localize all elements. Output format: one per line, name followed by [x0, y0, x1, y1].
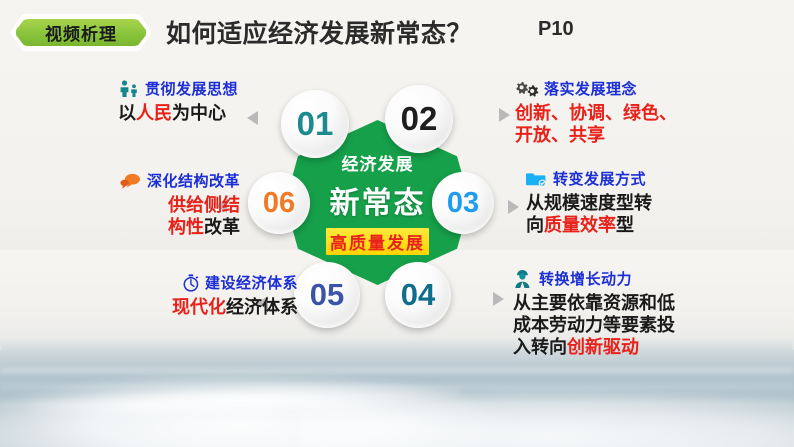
wave-foam-right [300, 387, 794, 447]
item-03-body-line1: 从规模速度型转 [526, 193, 741, 215]
number-bubble-06[interactable]: 06 [248, 172, 310, 234]
folder-check-icon [526, 170, 548, 187]
item-block-02[interactable]: 落实发展理念 创新、协调、绿色、 开放、共享 [515, 78, 730, 147]
item-04-body: 从主要依靠资源和低 成本劳动力等要素投 入转向创新驱动 [513, 293, 785, 359]
item-05-body: 现代化经济体系 [108, 297, 298, 319]
item-01-heading-row: 贯彻发展思想 [118, 78, 298, 99]
gears-icon [515, 80, 539, 98]
item-01-body: 以人民为中心 [118, 103, 298, 125]
pointer-triangle-03 [508, 200, 519, 214]
item-06-body-line1: 供给侧结 [62, 195, 240, 217]
item-06-body-l2b: 改革 [204, 217, 240, 238]
item-04-body-line1: 从主要依靠资源和低 [513, 293, 785, 315]
item-01-heading: 贯彻发展思想 [145, 78, 238, 99]
item-04-body-l3a: 入转向 [513, 337, 567, 358]
speech-bubble-icon [120, 173, 142, 189]
item-06-heading-row: 深化结构改革 [62, 170, 240, 191]
stopwatch-icon [182, 274, 200, 292]
item-03-body: 从规模速度型转 向质量效率型 [526, 193, 741, 237]
pointer-triangle-04 [493, 292, 504, 306]
item-02-heading: 落实发展理念 [544, 78, 637, 99]
item-block-01[interactable]: 贯彻发展思想 以人民为中心 [118, 78, 298, 125]
item-06-heading: 深化结构改革 [147, 170, 240, 191]
hexagon-line-2: 新常态 [330, 178, 426, 222]
section-tag-label: 视频析理 [45, 20, 117, 45]
item-02-body: 创新、协调、绿色、 开放、共享 [515, 103, 730, 147]
item-05-body-highlight: 现代化 [172, 297, 226, 318]
worker-person-icon [513, 269, 534, 288]
family-people-icon [118, 80, 140, 97]
item-01-body-a: 以 [118, 103, 136, 124]
item-block-04[interactable]: 转换增长动力 从主要依靠资源和低 成本劳动力等要素投 入转向创新驱动 [513, 268, 785, 359]
item-block-05[interactable]: 建设经济体系 现代化经济体系 [108, 272, 298, 319]
item-05-heading: 建设经济体系 [205, 272, 298, 293]
item-03-heading-row: 转变发展方式 [526, 168, 741, 189]
item-block-03[interactable]: 转变发展方式 从规模速度型转 向质量效率型 [526, 168, 741, 237]
item-06-body-line2: 构性改革 [62, 217, 240, 239]
number-bubble-03[interactable]: 03 [432, 172, 494, 234]
item-05-body-b: 经济体系 [226, 297, 298, 318]
slide-header: 视频析理 如何适应经济发展新常态？ P10 [0, 0, 794, 62]
item-05-heading-row: 建设经济体系 [108, 272, 298, 293]
item-03-body-l2a: 向 [526, 215, 544, 236]
pointer-triangle-02 [499, 108, 510, 122]
number-bubble-05[interactable]: 05 [294, 262, 360, 328]
item-03-body-l2c: 型 [616, 215, 634, 236]
item-03-body-line2: 向质量效率型 [526, 215, 741, 237]
number-bubble-02[interactable]: 02 [385, 85, 453, 153]
item-01-body-highlight: 人民 [136, 103, 172, 124]
item-02-body-line1: 创新、协调、绿色、 [515, 103, 730, 125]
item-04-heading-row: 转换增长动力 [513, 268, 785, 289]
item-04-body-highlight: 创新驱动 [567, 337, 639, 358]
item-04-heading: 转换增长动力 [539, 268, 632, 289]
page-title: 如何适应经济发展新常态？ [166, 14, 472, 50]
item-04-body-line2: 成本劳动力等要素投 [513, 315, 785, 337]
item-02-body-line2: 开放、共享 [515, 125, 730, 147]
hexagon-line-1: 经济发展 [342, 150, 414, 175]
item-01-body-c: 为中心 [172, 103, 226, 124]
item-02-heading-row: 落实发展理念 [515, 78, 730, 99]
item-block-06[interactable]: 深化结构改革 供给侧结 构性改革 [62, 170, 240, 239]
page-number: P10 [538, 18, 574, 41]
hexagon-line-3: 高质量发展 [326, 228, 429, 255]
item-06-body-highlight: 构性 [168, 217, 204, 238]
section-tag: 视频析理 [14, 17, 148, 48]
item-03-heading: 转变发展方式 [553, 168, 646, 189]
item-04-body-line3: 入转向创新驱动 [513, 337, 785, 359]
number-bubble-04[interactable]: 04 [385, 262, 451, 328]
item-06-body: 供给侧结 构性改革 [62, 195, 240, 239]
item-03-body-highlight: 质量效率 [544, 215, 616, 236]
